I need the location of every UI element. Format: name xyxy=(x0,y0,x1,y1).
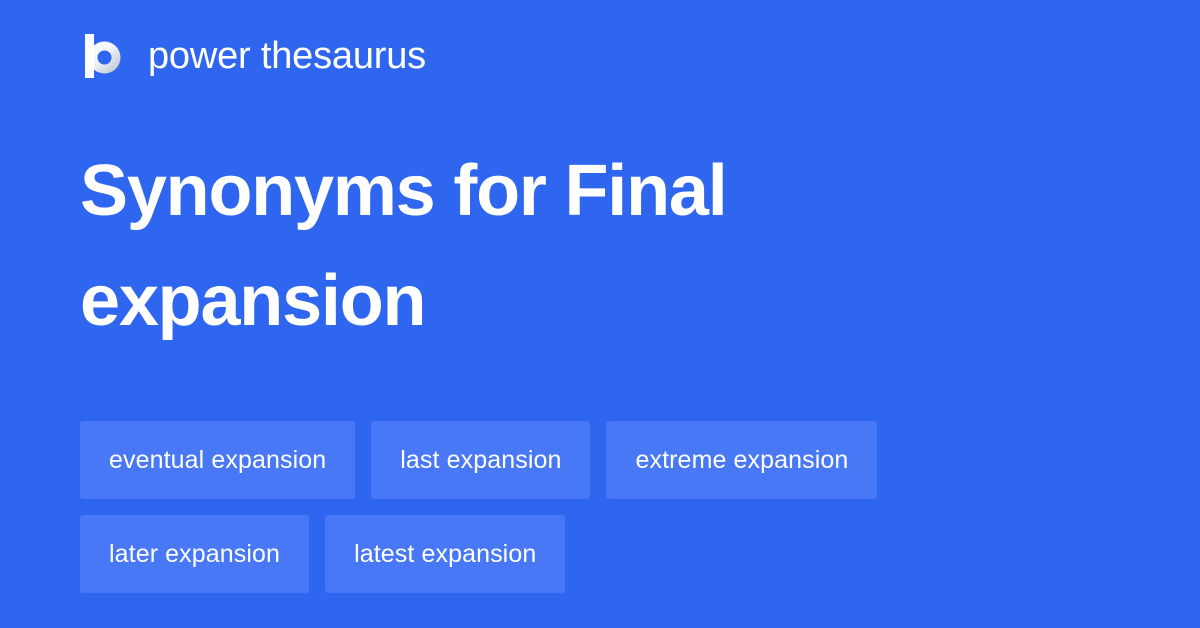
synonym-chip[interactable]: later expansion xyxy=(80,515,309,593)
page-title: Synonyms for Final expansion xyxy=(80,136,940,356)
synonym-chip[interactable]: last expansion xyxy=(371,421,590,499)
brand-logo[interactable]: power thesaurus xyxy=(80,28,426,84)
brand-name: power thesaurus xyxy=(148,37,426,75)
synonyms-card: power thesaurus Synonyms for Final expan… xyxy=(0,0,1200,628)
power-thesaurus-b-mark-icon xyxy=(80,32,128,80)
synonym-chip[interactable]: latest expansion xyxy=(325,515,565,593)
synonym-chip-list: eventual expansion last expansion extrem… xyxy=(80,421,1120,593)
synonym-chip[interactable]: eventual expansion xyxy=(80,421,355,499)
synonym-chip[interactable]: extreme expansion xyxy=(606,421,877,499)
